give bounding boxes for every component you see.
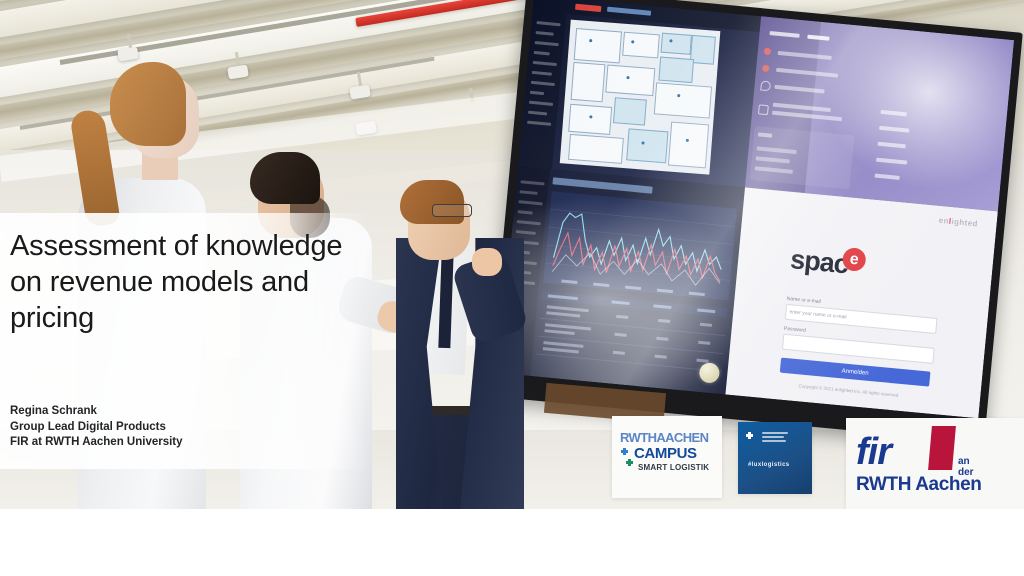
poster-rwth-aachen-campus: RWTHAACHEN CAMPUS SMART LOGISTIK	[612, 416, 722, 498]
presentation-slide: enlighted spac e Name or e-mail enter yo…	[0, 0, 1024, 576]
screen-panel-dashboard[interactable]	[498, 166, 745, 395]
dashboard-line-chart[interactable]	[543, 191, 737, 300]
presenter-role: Group Lead Digital Products	[10, 420, 340, 436]
fir-wall-bar	[928, 426, 956, 470]
display-bezel: enlighted spac e Name or e-mail enter yo…	[488, 0, 1023, 443]
floorplan-canvas[interactable]	[560, 20, 721, 175]
woman-hair	[110, 62, 186, 146]
blue-poster-word: #luxlogistics	[748, 462, 790, 468]
presenter-organization: FIR at RWTH Aachen University	[10, 435, 340, 451]
poster-fir-rwth-aachen: fir an der RWTH Aachen	[846, 418, 1024, 509]
line-chart-svg	[543, 191, 737, 300]
username-input[interactable]	[785, 304, 938, 334]
display-screen[interactable]: enlighted spac e Name or e-mail enter yo…	[498, 0, 1014, 418]
screen-glare	[810, 16, 1014, 202]
dashboard-title-bar	[552, 177, 652, 193]
login-submit-button[interactable]: Anmelden	[780, 358, 931, 387]
title-line-2: on revenue models and	[10, 264, 418, 300]
screen-panel-login[interactable]: enlighted spac e Name or e-mail enter yo…	[725, 187, 997, 418]
presenter-byline: Regina Schrank Group Lead Digital Produc…	[10, 404, 340, 451]
login-copyright: Copyright © 2021 enlighted Inc. All righ…	[798, 383, 899, 398]
password-label: Password	[784, 326, 806, 334]
campus-poster-line1: RWTHAACHEN	[620, 430, 708, 445]
poster-blue-banner: #luxlogistics	[738, 422, 812, 494]
presenter-name: Regina Schrank	[10, 404, 340, 420]
campus-poster-line3: SMART LOGISTIK	[638, 463, 709, 472]
man-suit-hand	[472, 248, 502, 276]
screen-panel-floorplan[interactable]	[518, 0, 761, 187]
enlighted-logo: enlighted	[938, 216, 978, 229]
title-slide-photo: enlighted spac e Name or e-mail enter yo…	[0, 0, 1024, 509]
document-icon	[758, 104, 769, 115]
campus-poster-line2: CAMPUS	[634, 445, 697, 462]
blue-poster-lines	[762, 432, 788, 444]
fir-wall-logo: fir an der RWTH Aachen	[856, 432, 981, 496]
title-line-3: pricing	[10, 300, 418, 336]
page-title: Assessment of knowledge on revenue model…	[10, 228, 418, 336]
title-line-1: Assessment of knowledge	[10, 228, 418, 264]
man-center-hair	[250, 152, 320, 204]
blue-poster-logo-icon	[746, 432, 758, 444]
campus-cross-icon-green	[626, 459, 637, 470]
screen-panel-purple-app[interactable]	[745, 16, 1014, 211]
man-suit-glasses	[432, 204, 472, 217]
space-logo: spac	[789, 244, 849, 280]
fir-wall-at: an der	[958, 456, 981, 478]
slide-footer: fir at RWTH Aachen University eit Manufa…	[0, 509, 1024, 576]
man-suit-hair	[400, 180, 464, 224]
fir-wall-mark: fir	[856, 431, 891, 473]
